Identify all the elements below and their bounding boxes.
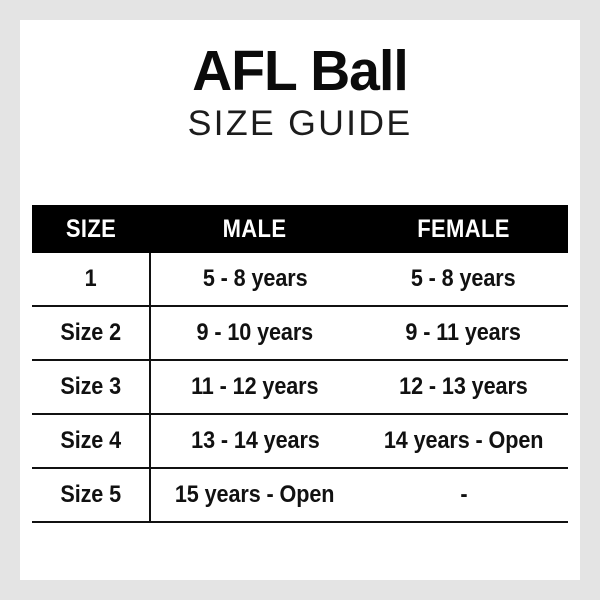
cell-male-text: 5 - 8 years bbox=[203, 265, 308, 293]
cell-female-text: 5 - 8 years bbox=[411, 265, 516, 293]
cell-size: Size 3 bbox=[32, 360, 150, 414]
column-header-male: MALE bbox=[163, 205, 347, 253]
cell-female: 9 - 11 years bbox=[359, 306, 568, 360]
cell-male: 13 - 14 years bbox=[150, 414, 359, 468]
table-header: SIZE MALE FEMALE bbox=[32, 205, 568, 253]
column-header-female: FEMALE bbox=[372, 205, 556, 253]
cell-size-text: Size 2 bbox=[60, 319, 121, 347]
cell-female-text: 12 - 13 years bbox=[399, 373, 528, 401]
cell-female: - bbox=[359, 468, 568, 522]
table-row: 1 5 - 8 years 5 - 8 years bbox=[32, 253, 568, 306]
cell-male: 5 - 8 years bbox=[150, 253, 359, 306]
page-subtitle: SIZE GUIDE bbox=[14, 102, 585, 146]
size-guide-table: SIZE MALE FEMALE 1 5 - 8 years 5 - 8 yea… bbox=[32, 205, 568, 523]
cell-female-text: - bbox=[460, 481, 467, 509]
table-row: Size 4 13 - 14 years 14 years - Open bbox=[32, 414, 568, 468]
cell-size-text: Size 4 bbox=[60, 427, 121, 455]
cell-size-text: Size 3 bbox=[60, 373, 121, 401]
cell-size-text: 1 bbox=[85, 265, 97, 293]
cell-size: Size 5 bbox=[32, 468, 150, 522]
cell-male-text: 11 - 12 years bbox=[191, 373, 318, 401]
cell-size: 1 bbox=[32, 253, 150, 306]
column-header-size: SIZE bbox=[39, 205, 143, 253]
table-row: Size 2 9 - 10 years 9 - 11 years bbox=[32, 306, 568, 360]
size-guide-card: AFL Ball SIZE GUIDE SIZE MALE FEMALE 1 5… bbox=[20, 20, 580, 580]
cell-female-text: 14 years - Open bbox=[384, 427, 544, 455]
cell-male-text: 15 years - Open bbox=[175, 481, 335, 509]
cell-male-text: 9 - 10 years bbox=[197, 319, 314, 347]
table-row: Size 5 15 years - Open - bbox=[32, 468, 568, 522]
cell-size: Size 4 bbox=[32, 414, 150, 468]
cell-size: Size 2 bbox=[32, 306, 150, 360]
cell-male: 15 years - Open bbox=[150, 468, 359, 522]
page-title: AFL Ball bbox=[28, 20, 571, 102]
cell-male-text: 13 - 14 years bbox=[191, 427, 320, 455]
cell-female: 5 - 8 years bbox=[359, 253, 568, 306]
title-block: AFL Ball SIZE GUIDE bbox=[20, 20, 580, 146]
cell-female: 14 years - Open bbox=[359, 414, 568, 468]
cell-size-text: Size 5 bbox=[60, 481, 121, 509]
cell-female: 12 - 13 years bbox=[359, 360, 568, 414]
cell-male: 11 - 12 years bbox=[150, 360, 359, 414]
cell-female-text: 9 - 11 years bbox=[406, 319, 521, 347]
table-row: Size 3 11 - 12 years 12 - 13 years bbox=[32, 360, 568, 414]
table-body: 1 5 - 8 years 5 - 8 years Size 2 9 - 10 … bbox=[32, 253, 568, 522]
cell-male: 9 - 10 years bbox=[150, 306, 359, 360]
table-header-row: SIZE MALE FEMALE bbox=[32, 205, 568, 253]
